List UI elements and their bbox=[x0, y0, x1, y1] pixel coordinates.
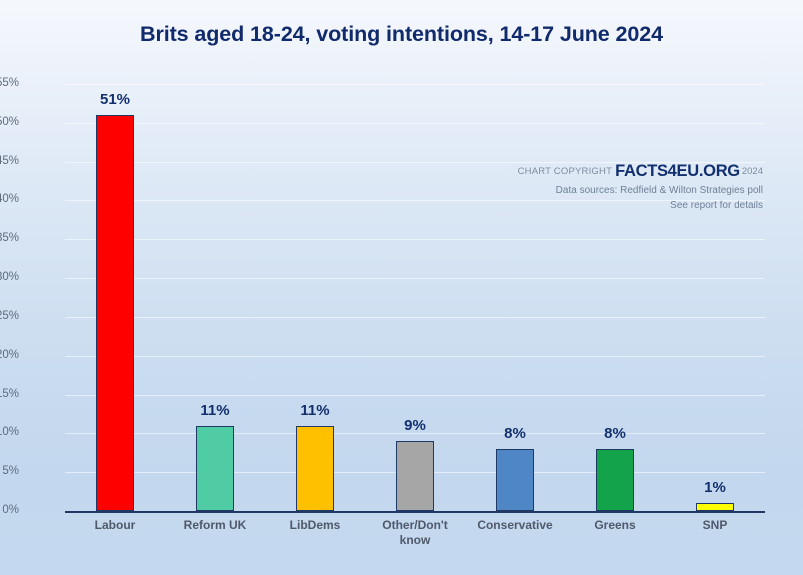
bar-group: 11% bbox=[165, 84, 265, 511]
y-axis-tick-label: 40% bbox=[0, 193, 19, 205]
bar-value-label: 8% bbox=[465, 425, 565, 442]
x-axis-category-label-line: Greens bbox=[565, 518, 665, 533]
x-axis-category-label: Reform UK bbox=[165, 518, 265, 533]
x-axis-category-label-line: Labour bbox=[65, 518, 165, 533]
x-axis-category-label: LibDems bbox=[265, 518, 365, 533]
y-axis-tick-label: 35% bbox=[0, 232, 19, 244]
y-axis-tick-label: 5% bbox=[0, 465, 19, 477]
bar[interactable] bbox=[96, 115, 134, 511]
x-axis-category-label: Conservative bbox=[465, 518, 565, 533]
bar-value-label: 11% bbox=[165, 402, 265, 419]
y-axis-tick-label: 10% bbox=[0, 426, 19, 438]
x-axis-category-label-line: SNP bbox=[665, 518, 765, 533]
y-axis-tick-label: 0% bbox=[0, 504, 19, 516]
y-axis-tick-label: 50% bbox=[0, 116, 19, 128]
bar[interactable] bbox=[496, 449, 534, 511]
x-axis-category-label: Other/Don'tknow bbox=[365, 518, 465, 548]
y-axis-tick-label: 30% bbox=[0, 271, 19, 283]
chart-container: Brits aged 18-24, voting intentions, 14-… bbox=[0, 0, 803, 575]
x-axis-category-label-line: Other/Don't bbox=[365, 518, 465, 533]
x-axis-line bbox=[65, 511, 765, 513]
bar-group: 8% bbox=[565, 84, 665, 511]
bar[interactable] bbox=[696, 503, 734, 511]
bar[interactable] bbox=[596, 449, 634, 511]
chart-title: Brits aged 18-24, voting intentions, 14-… bbox=[0, 22, 803, 47]
bar-value-label: 51% bbox=[65, 91, 165, 108]
bar-group: 8% bbox=[465, 84, 565, 511]
x-axis-category-label-line: know bbox=[365, 533, 465, 548]
bar[interactable] bbox=[296, 426, 334, 511]
y-axis-tick-label: 45% bbox=[0, 155, 19, 167]
x-axis-category-label-line: Conservative bbox=[465, 518, 565, 533]
x-axis-category-label-line: Reform UK bbox=[165, 518, 265, 533]
y-axis-tick-label: 55% bbox=[0, 77, 19, 89]
bar[interactable] bbox=[396, 441, 434, 511]
bar[interactable] bbox=[196, 426, 234, 511]
x-axis-category-label: Greens bbox=[565, 518, 665, 533]
bar-value-label: 9% bbox=[365, 417, 465, 434]
y-axis-tick-label: 20% bbox=[0, 349, 19, 361]
bar-value-label: 11% bbox=[265, 402, 365, 419]
x-axis-category-label-line: LibDems bbox=[265, 518, 365, 533]
y-axis-tick-label: 15% bbox=[0, 388, 19, 400]
bar-value-label: 1% bbox=[665, 479, 765, 496]
plot-area: 0%5%10%15%20%25%30%35%40%45%50%55% 51%11… bbox=[65, 84, 765, 511]
y-axis-tick-label: 25% bbox=[0, 310, 19, 322]
bar-group: 11% bbox=[265, 84, 365, 511]
bar-group: 51% bbox=[65, 84, 165, 511]
x-axis-category-label: Labour bbox=[65, 518, 165, 533]
x-axis-category-label: SNP bbox=[665, 518, 765, 533]
bar-group: 1% bbox=[665, 84, 765, 511]
bar-value-label: 8% bbox=[565, 425, 665, 442]
bar-group: 9% bbox=[365, 84, 465, 511]
